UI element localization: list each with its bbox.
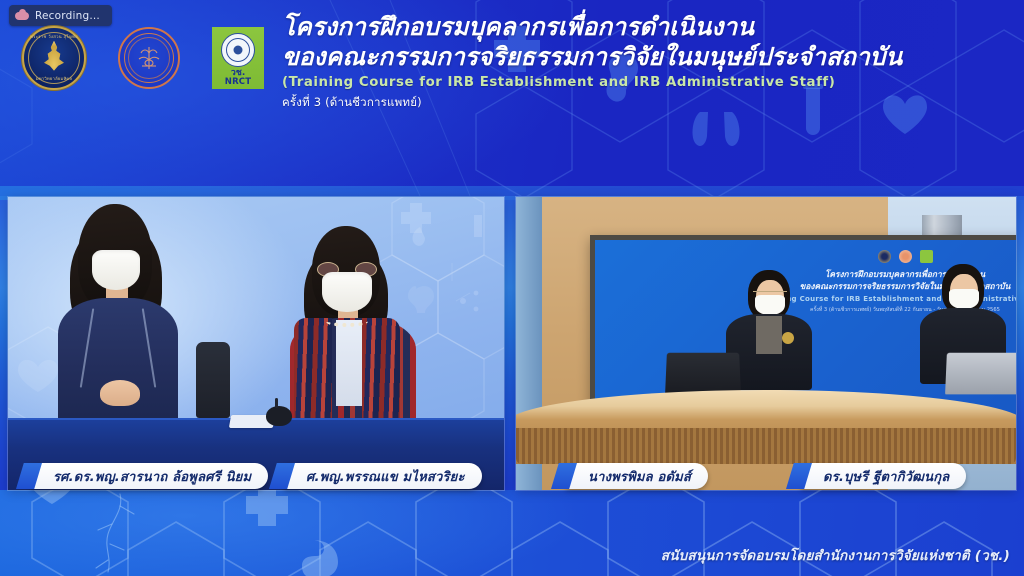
name-tag-speaker-1: รศ.ดร.พญ.สารนาถ ล้อพูลศรี นิยม — [30, 463, 268, 489]
royal-seal-logo: พระราช วังสวน สุโขทัย มหาวิทยาลัยมหิดล — [22, 26, 86, 90]
seal-top-text: พระราช วังสวน สุโขทัย — [24, 35, 84, 39]
title-thai-line1: โครงการฝึกอบรมบุคลากรเพื่อการดำเนินงาน — [282, 12, 982, 42]
copper-emblem-icon — [133, 45, 165, 71]
speaker-name: ศ.พญ.พรรณแข มไหสวริยะ — [306, 466, 465, 487]
face-mask — [322, 272, 372, 312]
cloud-record-icon — [15, 9, 29, 23]
name-tag-speaker-2: ศ.พญ.พรรณแข มไหสวริยะ — [283, 463, 482, 489]
vest-panel-left — [294, 318, 332, 430]
conference-table — [516, 390, 1016, 464]
pearl-necklace — [326, 316, 368, 327]
title-thai-line2: ของคณะกรรมการจริยธรรมการวิจัยในมนุษย์ประ… — [282, 42, 982, 72]
title-subtitle: ครั้งที่ 3 (ด้านชีวการแพทย์) — [282, 94, 982, 112]
nrct-en-label: NRCT — [225, 78, 252, 87]
face-mask — [92, 250, 140, 290]
speaker-figure-2 — [284, 220, 460, 420]
header-logo-group: พระราช วังสวน สุโขทัย มหาวิทยาลัยมหิดล — [22, 26, 264, 90]
name-tag-speaker-3: นางพรพิมล อดัมส์ — [565, 463, 708, 489]
nrct-logo: วช. NRCT — [212, 27, 264, 89]
torso-navy-top — [58, 298, 178, 426]
screen-logo-nrct — [920, 250, 933, 263]
speaker-panel-left[interactable] — [8, 197, 504, 490]
speaker-panel-right[interactable]: โครงการฝึกอบรมบุคลากรเพื่อการดำเนินงาน ข… — [516, 197, 1016, 490]
broadcast-stage: Recording... พระราช วังสวน สุโขทัย มหาวิ… — [0, 0, 1024, 576]
recording-indicator[interactable]: Recording... — [9, 5, 112, 26]
copper-seal-logo — [118, 27, 180, 89]
nrct-gear-icon — [221, 33, 255, 67]
speaker-figure-1 — [52, 204, 228, 420]
face-mask — [949, 289, 979, 309]
seal-bottom-text: มหาวิทยาลัยมหิดล — [24, 77, 84, 81]
name-tag-speaker-4: ดร.บุษรี ฐีตากิวัฒนกุล — [800, 463, 966, 489]
recording-label: Recording... — [35, 10, 100, 22]
speaker-name: นางพรพิมล อดัมส์ — [588, 466, 691, 487]
laptop-dark — [665, 353, 741, 395]
page-title: โครงการฝึกอบรมบุคลากรเพื่อการดำเนินงาน ข… — [282, 12, 982, 112]
title-english: (Training Course for IRB Establishment a… — [282, 75, 982, 90]
table-front-panel — [516, 428, 1015, 464]
speaker-name: รศ.ดร.พญ.สารนาถ ล้อพูลศรี นิยม — [53, 466, 251, 487]
inner-top — [756, 316, 782, 354]
institution-badge-icon — [782, 332, 794, 344]
screen-logo-royal — [878, 250, 891, 263]
laptop-silver — [945, 353, 1016, 395]
clasped-hands — [100, 380, 140, 406]
desk-microphone-icon — [266, 406, 292, 426]
screen-logo-row — [595, 250, 1016, 263]
speaker-name: ดร.บุษรี ฐีตากิวัฒนกุล — [823, 466, 949, 487]
sponsor-footer-text: สนับสนุนการจัดอบรมโดยสำนักงานการวิจัยแห่… — [661, 544, 1010, 566]
inner-shirt — [336, 320, 362, 406]
vest-panel-right — [362, 318, 400, 430]
screen-logo-copper — [899, 250, 912, 263]
face-mask — [755, 295, 785, 315]
